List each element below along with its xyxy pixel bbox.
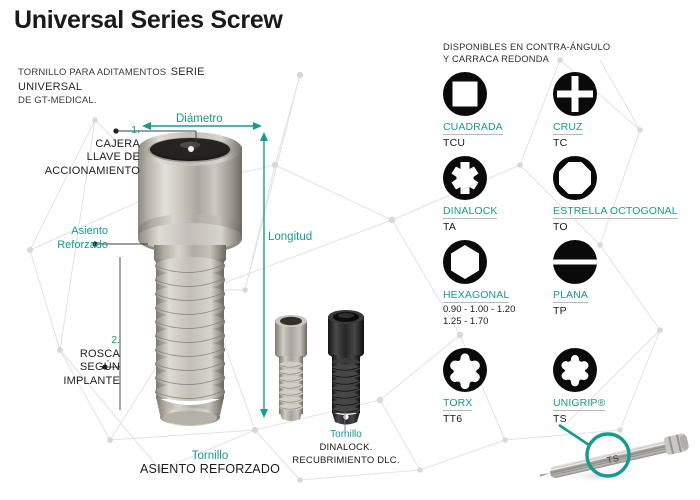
connection-torx-code: TT6	[443, 413, 487, 425]
connection-torx-name: TORX	[443, 397, 472, 411]
callout-cajera-line3: ACCIONAMIENTO	[20, 165, 140, 179]
small-screw-light-illustration	[268, 310, 314, 430]
connection-plana-name: PLANA	[553, 289, 588, 303]
callout-rosca-line2: SEGÚN	[10, 361, 120, 375]
connection-dinalock-code: TA	[443, 221, 497, 233]
callout-cajera: 1. CAJERA LLAVE DE ACCIONAMIENTO	[20, 124, 140, 178]
connection-cuadrada-name: CUADRADA	[443, 121, 503, 135]
connection-estrella-name: ESTRELLA OCTOGONAL	[553, 205, 678, 219]
connection-cuadrada-code: TCU	[443, 137, 503, 149]
octagon-drive-icon	[553, 156, 597, 200]
screwdriver-tool-illustration: TS	[540, 418, 700, 493]
slot-drive-icon	[553, 240, 597, 284]
hexagon-drive-icon	[443, 240, 487, 284]
connection-cruz[interactable]: CRUZ TC	[553, 72, 597, 149]
callout-asiento-line2: Reforzado	[20, 239, 108, 253]
connection-cruz-name: CRUZ	[553, 121, 583, 135]
connection-torx[interactable]: TORX TT6	[443, 348, 487, 425]
connection-plana[interactable]: PLANA TP	[553, 240, 597, 317]
torx-drive-icon	[443, 348, 487, 392]
connection-dinalock[interactable]: DINALOCK TA	[443, 156, 497, 233]
callout-asiento-line1: Asiento	[20, 225, 108, 239]
connection-hexagonal-sizes-line1: 0.90 - 1.00 - 1.20	[443, 304, 515, 315]
callout-asiento: Asiento Reforzado	[20, 225, 108, 252]
connection-hexagonal[interactable]: HEXAGONAL 0.90 - 1.00 - 1.20 1.25 - 1.70	[443, 240, 515, 327]
callout-cajera-line2: LLAVE DE	[20, 151, 140, 165]
intro-caption: TORNILLO PARA ADITAMENTOS SERIE UNIVERSA…	[18, 64, 268, 107]
callout-cajera-line1: CAJERA	[20, 138, 140, 152]
connection-hexagonal-sizes-line2: 1.25 - 1.70	[443, 316, 515, 327]
connection-unigrip-name: UNIGRIP®	[553, 397, 605, 411]
length-label: Longitud	[268, 231, 312, 243]
connection-unigrip[interactable]: UNIGRIP® TS	[553, 348, 605, 425]
caption-right-line1: DINALOCK.	[272, 441, 420, 454]
connections-heading: DISPONIBLES EN CONTRA-ÁNGULO Y CARRACA R…	[443, 42, 610, 65]
caption-right: Tornillo DINALOCK. RECUBRIMIENTO DLC.	[272, 428, 420, 467]
connection-plana-code: TP	[553, 305, 597, 317]
callout-rosca-line3: IMPLANTE	[10, 375, 120, 389]
caption-right-line2: RECUBRIMIENTO DLC.	[272, 454, 420, 467]
page-title: Universal Series Screw	[14, 6, 283, 35]
caption-right-top: Tornillo	[272, 428, 420, 441]
square-drive-icon	[443, 72, 487, 116]
connection-hexagonal-name: HEXAGONAL	[443, 289, 509, 303]
dinalock-drive-icon	[443, 156, 487, 200]
connection-estrella-octogonal[interactable]: ESTRELLA OCTOGONAL TO	[553, 156, 678, 233]
connections-heading-line2: Y CARRACA REDONDA	[443, 54, 610, 66]
connection-cuadrada[interactable]: CUADRADA TCU	[443, 72, 503, 149]
poster-root: Universal Series Screw TORNILLO PARA ADI…	[0, 0, 700, 500]
connection-estrella-code: TO	[553, 221, 678, 233]
connection-dinalock-name: DINALOCK	[443, 205, 497, 219]
callout-rosca-line1: ROSCA	[10, 348, 120, 362]
callout-cajera-number: 1.	[20, 124, 140, 138]
connections-heading-line1: DISPONIBLES EN CONTRA-ÁNGULO	[443, 42, 610, 54]
intro-line2: DE GT-MEDICAL.	[18, 94, 268, 107]
callout-rosca: 2. ROSCA SEGÚN IMPLANTE	[10, 334, 120, 388]
cross-drive-icon	[553, 72, 597, 116]
callout-rosca-number: 2.	[10, 334, 120, 348]
unigrip-drive-icon	[553, 348, 597, 392]
intro-line1: TORNILLO PARA ADITAMENTOS	[18, 67, 166, 78]
connection-cruz-code: TC	[553, 137, 597, 149]
